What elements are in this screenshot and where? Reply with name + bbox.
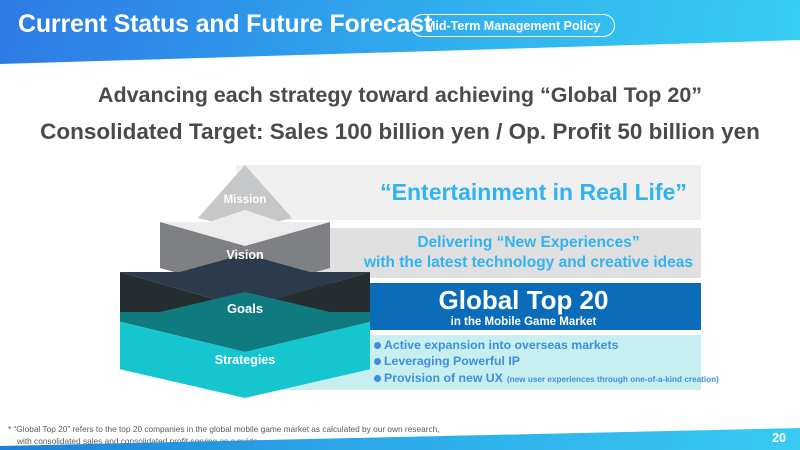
slide-header: Current Status and Future Forecast Mid-T…	[0, 0, 800, 70]
pyramid-label-strategies: Strategies	[120, 353, 370, 367]
pyramid-label-goals: Goals	[120, 301, 370, 316]
vision-band-line-1: Delivering “New Experiences”	[356, 233, 701, 253]
bullet-dot-icon	[374, 358, 381, 365]
bullet-dot-icon	[374, 342, 381, 349]
list-item-label: Provision of new UX	[384, 370, 503, 387]
slide-footer: 20	[0, 428, 800, 450]
footer-background-shape	[0, 428, 800, 450]
bullet-dot-icon	[374, 375, 381, 382]
list-item: Active expansion into overseas markets	[374, 337, 701, 354]
list-item-note: (new user experiences through one-of-a-k…	[507, 372, 719, 389]
status-badge: Mid-Term Management Policy	[411, 14, 615, 37]
list-item-label: Active expansion into overseas markets	[384, 337, 618, 354]
pyramid-label-vision: Vision	[120, 248, 370, 262]
list-item: Leveraging Powerful IP	[374, 353, 701, 370]
subtitle-line-2: Consolidated Target: Sales 100 billion y…	[0, 116, 800, 147]
pyramid-diagram: Mission Vision Goals Strategies	[120, 160, 370, 400]
subtitle-block: Advancing each strategy toward achieving…	[0, 80, 800, 147]
vision-band-line-2: with the latest technology and creative …	[356, 253, 701, 273]
pyramid-label-mission: Mission	[120, 194, 370, 206]
subtitle-line-1: Advancing each strategy toward achieving…	[0, 80, 800, 111]
slide-canvas: Current Status and Future Forecast Mid-T…	[0, 0, 800, 450]
page-title: Current Status and Future Forecast	[18, 10, 432, 39]
status-badge-label: Mid-Term Management Policy	[425, 19, 601, 33]
list-item-label: Leveraging Powerful IP	[384, 353, 520, 370]
list-item: Provision of new UX (new user experience…	[374, 370, 701, 389]
page-number: 20	[772, 431, 786, 445]
